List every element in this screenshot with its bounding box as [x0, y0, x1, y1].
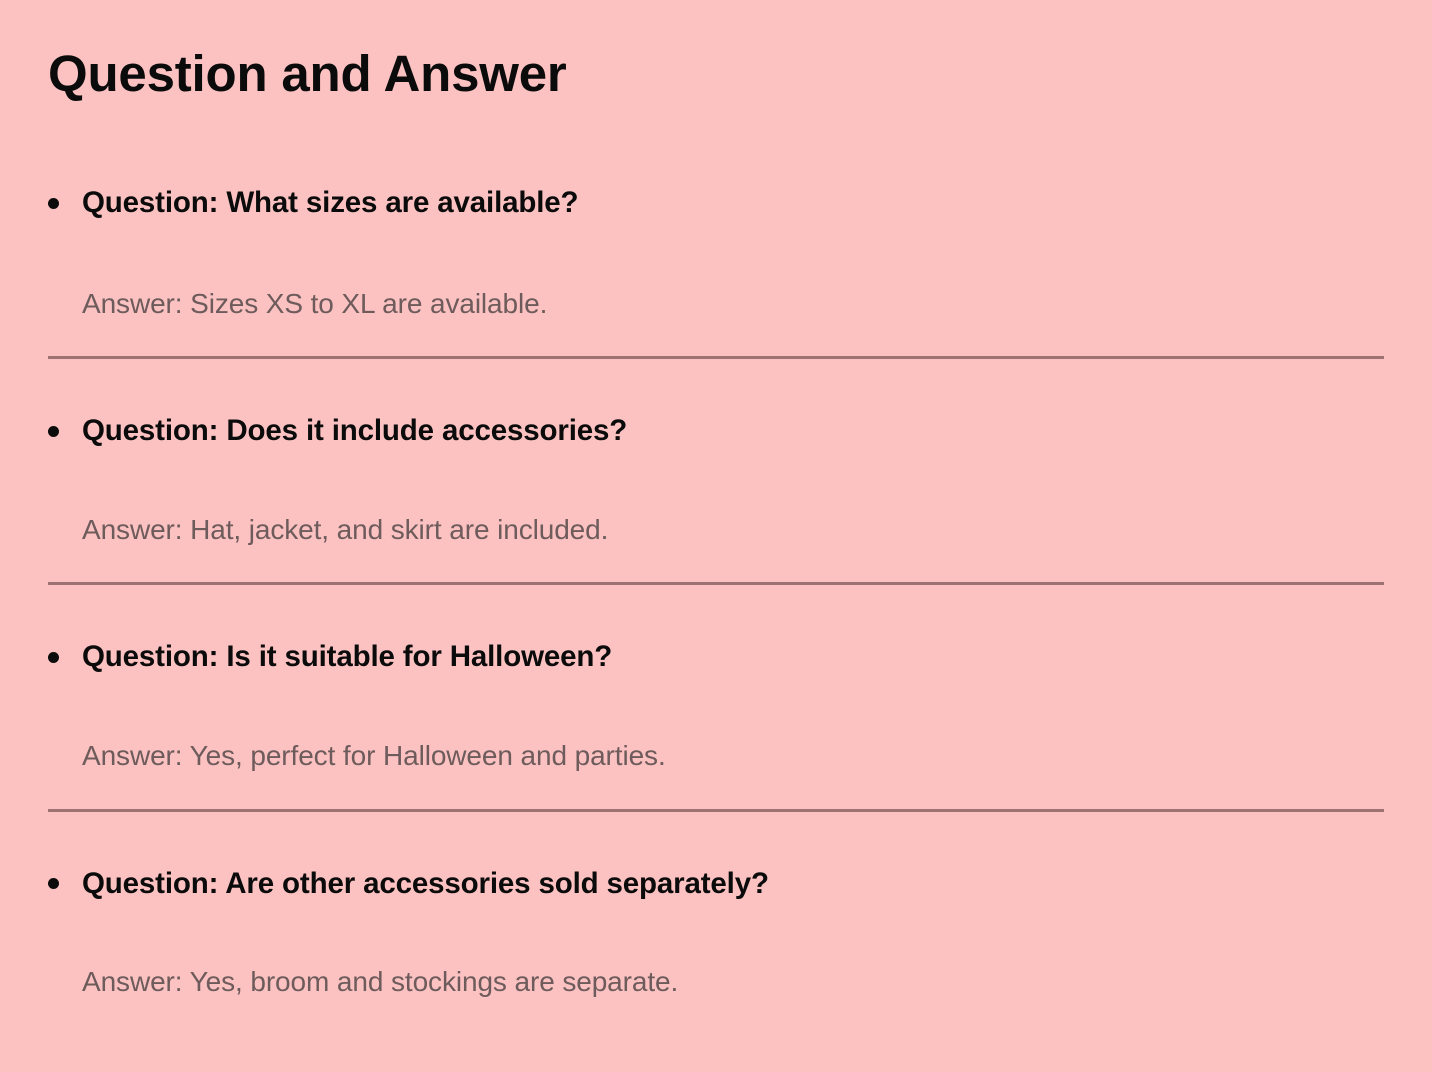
qa-block: Question: Does it include accessories? A…: [48, 356, 1384, 548]
qa-question-text: Question: What sizes are available?: [82, 186, 578, 219]
qa-question: Question: Does it include accessories?: [48, 412, 1384, 450]
qa-question: Question: Is it suitable for Halloween?: [48, 638, 1384, 676]
page-title: Question and Answer: [48, 0, 1384, 104]
qa-list: Question: What sizes are available? Answ…: [48, 184, 1384, 1001]
bullet-dot-icon: [48, 878, 59, 889]
qa-answer: Answer: Yes, broom and stockings are sep…: [48, 964, 1384, 1000]
qa-answer: Answer: Sizes XS to XL are available.: [48, 286, 1384, 322]
qa-question-text: Question: Is it suitable for Halloween?: [82, 640, 612, 673]
qa-question-text: Question: Does it include accessories?: [82, 414, 627, 447]
qa-question: Question: What sizes are available?: [48, 184, 1384, 222]
qa-block: Question: Is it suitable for Halloween? …: [48, 582, 1384, 774]
qa-answer: Answer: Hat, jacket, and skirt are inclu…: [48, 512, 1384, 548]
qa-answer: Answer: Yes, perfect for Halloween and p…: [48, 738, 1384, 774]
qa-question-text: Question: Are other accessories sold sep…: [82, 867, 769, 900]
qa-block: Question: What sizes are available? Answ…: [48, 184, 1384, 322]
qa-question: Question: Are other accessories sold sep…: [48, 865, 1384, 903]
qa-block: Question: Are other accessories sold sep…: [48, 809, 1384, 1001]
qa-page: Question and Answer Question: What sizes…: [0, 0, 1432, 1072]
bullet-dot-icon: [48, 426, 59, 437]
bullet-dot-icon: [48, 652, 59, 663]
bullet-dot-icon: [48, 198, 59, 209]
